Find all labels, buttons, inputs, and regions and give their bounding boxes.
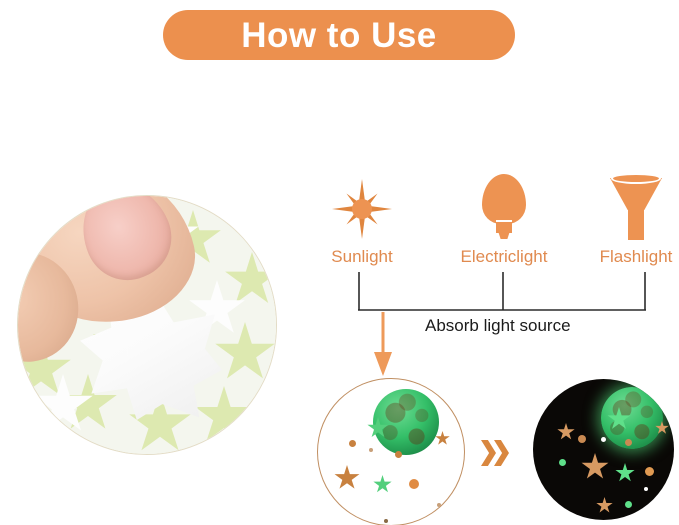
dot-sticker (395, 451, 402, 458)
daylight-result-circle (318, 379, 464, 525)
chevron-right-icon (481, 440, 496, 466)
light-source-label: Electriclight (434, 248, 574, 265)
dot-sticker (601, 437, 606, 442)
star-sticker (596, 497, 613, 514)
light-source-label: Flashlight (576, 248, 679, 265)
glow-in-dark-result-circle (533, 379, 674, 520)
flashlight-lens (611, 173, 661, 184)
star-sticker (373, 475, 392, 494)
dot-sticker (559, 459, 566, 466)
star-sticker (334, 465, 360, 491)
dot-sticker (644, 487, 648, 491)
dot-sticker (625, 501, 632, 508)
header-banner: How to Use (163, 10, 515, 60)
flashlight-icon-container (576, 168, 679, 240)
thumbnail (68, 196, 185, 293)
glowing-moon-sticker (601, 387, 663, 449)
flashlight-icon (610, 172, 662, 240)
star-sticker (557, 423, 575, 441)
star-sticker (615, 463, 635, 483)
bulb-tip (498, 231, 510, 239)
dot-sticker (625, 439, 632, 446)
dot-sticker (645, 467, 654, 476)
dot-sticker (384, 519, 388, 523)
page-title: How to Use (241, 18, 437, 53)
sun-icon (331, 178, 393, 240)
dot-sticker (349, 440, 356, 447)
sun-icon-container (302, 168, 422, 240)
light-bulb-icon (482, 174, 526, 240)
star-sticker (581, 453, 609, 481)
absorb-light-source-caption: Absorb light source (425, 317, 571, 334)
product-photo (18, 196, 276, 454)
bulb-glass (482, 174, 526, 224)
light-source-flashlight: Flashlight (576, 168, 679, 265)
flashlight-body (628, 209, 644, 240)
dot-sticker (409, 479, 419, 489)
dot-sticker (437, 503, 441, 507)
sun-core (352, 199, 372, 219)
chevron-right-icon (494, 440, 509, 466)
light-bulb-icon-container (434, 168, 574, 240)
double-chevron-right-icon (481, 440, 511, 466)
light-source-electriclight: Electriclight (434, 168, 574, 265)
dot-sticker (578, 435, 586, 443)
light-source-sunlight: Sunlight (302, 168, 422, 265)
moon-sticker (373, 389, 439, 455)
star-sticker (435, 431, 450, 446)
dot-sticker (369, 448, 373, 452)
light-source-label: Sunlight (302, 248, 422, 265)
